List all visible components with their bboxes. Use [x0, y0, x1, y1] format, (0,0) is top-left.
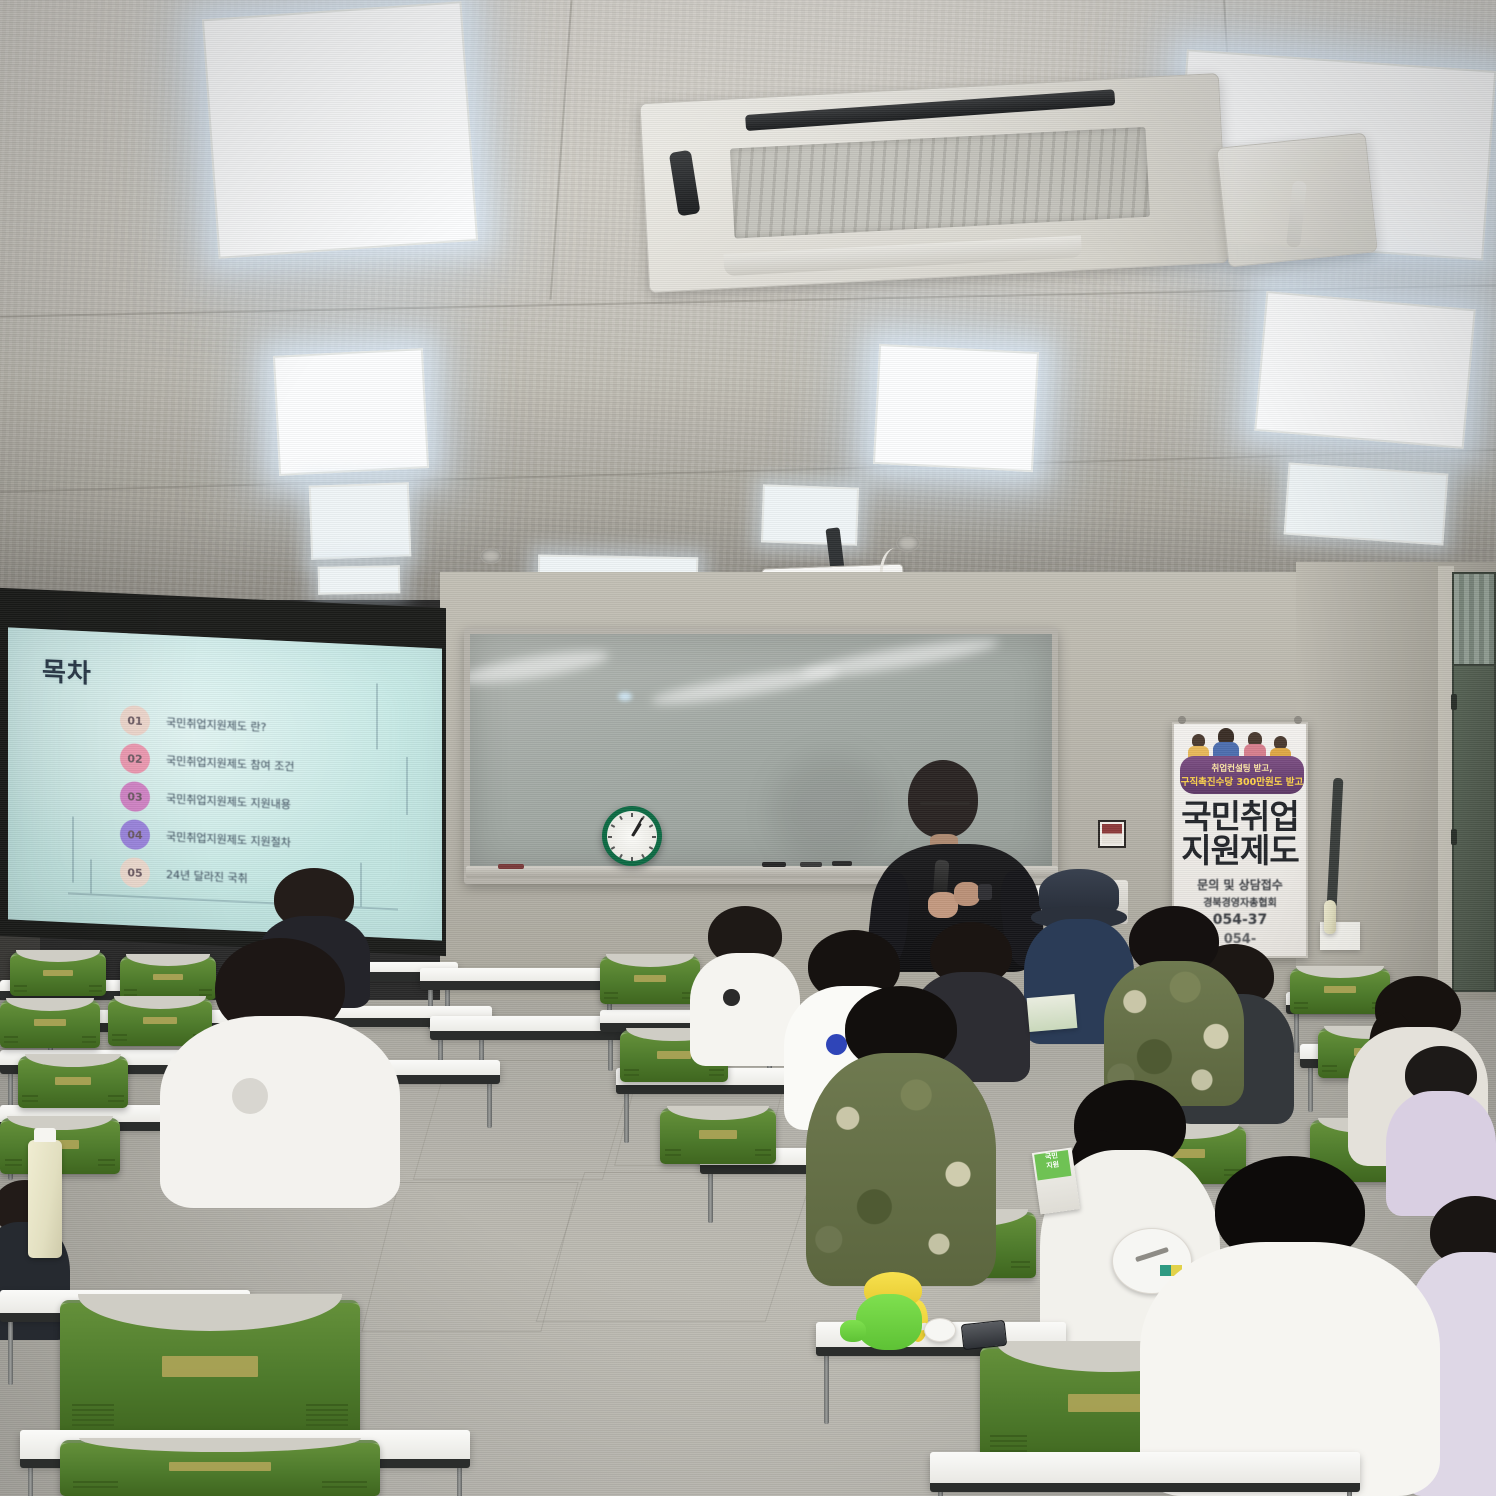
toc-label-02: 국민취업지원제도 참여 조건 [166, 752, 294, 774]
toc-number-02: 02 [120, 743, 150, 774]
desk-leg [708, 1170, 713, 1223]
toc-number-04: 04 [120, 819, 150, 850]
desk-leg [1308, 1064, 1313, 1112]
audience-member-foreground-right [1140, 1156, 1440, 1496]
clock-minute-hand [631, 817, 643, 836]
chair-vent [1011, 1261, 1031, 1272]
clock-tick [611, 846, 615, 850]
toc-label-03: 국민취업지원제도 지원내용 [166, 790, 291, 812]
ceiling-cassette-air-conditioner [639, 73, 1228, 293]
ac-grille [730, 127, 1150, 239]
clock-tick [631, 813, 633, 817]
chair-vent [82, 1036, 96, 1044]
chair-vent [72, 1404, 114, 1426]
chair-vent [5, 1159, 22, 1168]
banner-pill-line1: 취업컨설팅 받고, [1212, 762, 1273, 774]
chair-vent [709, 1069, 724, 1077]
marker[interactable] [832, 861, 852, 866]
floor-tile [536, 1172, 815, 1322]
green-leaflet [1027, 994, 1078, 1032]
smartphone [961, 1320, 1007, 1350]
bottle-cap [34, 1128, 56, 1142]
door-hinge [1451, 694, 1457, 710]
clock-tick [608, 836, 612, 838]
program-booklet: 국민 지원 [1032, 1148, 1080, 1215]
ceiling-light-7 [761, 484, 859, 545]
chair-label [657, 1051, 692, 1059]
water-bottle [28, 1140, 62, 1258]
chair-vent [604, 992, 618, 1000]
slide-decor-line [72, 817, 74, 883]
chair-vent [624, 1069, 639, 1077]
audience-member-camo [806, 986, 996, 1286]
desk-leg [28, 1464, 33, 1496]
banner-grommet [1294, 716, 1302, 724]
ceiling-light-5 [1254, 291, 1475, 449]
banner-title-line1: 국민취업 [1174, 800, 1306, 834]
toc-number-03: 03 [120, 781, 150, 812]
whiteboard-glare [800, 634, 1001, 684]
slide-title: 목차 [42, 651, 92, 690]
ceiling-light-8 [1284, 463, 1449, 546]
chair[interactable] [0, 1000, 100, 1048]
chair-label [43, 970, 74, 977]
chair[interactable] [18, 1056, 128, 1108]
chair-vent [1294, 1002, 1308, 1009]
plush-toy-arm [840, 1320, 866, 1342]
presenter-hand [954, 882, 980, 906]
ac-side-panel [1216, 132, 1378, 267]
toc-label-01: 국민취업지원제도 란? [166, 714, 266, 735]
desk-edge [420, 981, 620, 990]
toc-row-05: 0524년 달라진 국취 [120, 857, 248, 893]
banner-highlight-pill: 취업컨설팅 받고, 구직촉진수당 300만원도 받고 [1180, 756, 1304, 794]
chair[interactable] [60, 1440, 380, 1496]
marker[interactable] [498, 864, 524, 869]
slide-decor-line [406, 757, 408, 815]
audience-member-camo-2 [1104, 906, 1244, 1106]
wall-clock [602, 806, 662, 866]
projected-slide: 목차 01국민취업지원제도 란?02국민취업지원제도 참여 조건03국민취업지원… [8, 627, 442, 940]
ceiling-light-1 [202, 1, 478, 259]
toc-number-01: 01 [120, 705, 150, 736]
clock-tick [611, 824, 615, 828]
desk-leg [824, 1352, 829, 1424]
ac-vane [669, 150, 701, 217]
chair-vent [306, 1404, 348, 1426]
door-window [1452, 572, 1496, 666]
ceiling-light-9 [318, 565, 400, 594]
banner-grommet [1178, 716, 1186, 724]
whiteboard-hotspot [618, 692, 632, 701]
banner-title-line2: 지원제도 [1174, 834, 1306, 868]
clock-tick [619, 816, 623, 820]
wristwatch [978, 884, 992, 900]
chair-vent [22, 1095, 37, 1103]
chair-label [34, 1019, 66, 1026]
ceiling-light-4 [873, 344, 1039, 472]
chair-label [634, 975, 666, 982]
chair[interactable] [10, 952, 106, 996]
emergency-sign [1098, 820, 1126, 848]
banner-sub-line1: 문의 및 상담접수 [1174, 876, 1306, 893]
slide-decor-line [376, 683, 378, 749]
chair[interactable] [600, 956, 700, 1004]
toc-label-05: 24년 달라진 국취 [166, 866, 248, 886]
whiteboard-glare [470, 644, 611, 689]
clock-tick [619, 854, 623, 858]
chair-vent [112, 1034, 127, 1042]
booklet-cover-band: 국민 지원 [1034, 1150, 1071, 1180]
shirt-logo [723, 989, 740, 1006]
clock-face [607, 811, 657, 861]
ac-vane [1286, 181, 1307, 248]
chair-vent [1322, 1065, 1337, 1073]
toc-label-04: 국민취업지원제도 지원절차 [166, 828, 291, 850]
ac-vane [745, 89, 1115, 131]
chair-vent [124, 989, 137, 996]
slide-decor-line [90, 859, 92, 893]
clock-tick [652, 836, 656, 838]
chair[interactable] [660, 1108, 776, 1164]
banner-pill-line2: 구직촉진수당 300만원도 받고 [1181, 774, 1304, 788]
plush-toy-body [856, 1294, 922, 1350]
marker[interactable] [800, 862, 822, 867]
hand-fan [924, 1318, 956, 1342]
audience-member-front-left [160, 938, 400, 1208]
water-bottle [1324, 900, 1336, 934]
chair-label [169, 1462, 271, 1470]
ceiling-light-6 [309, 482, 412, 559]
chair-label [699, 1130, 736, 1138]
presenter-head [908, 760, 978, 838]
desk-leg [624, 1090, 629, 1143]
chair-vent [98, 1159, 115, 1168]
chair-vent [14, 985, 27, 992]
desk-leg [8, 1318, 13, 1385]
clock-tick [631, 857, 633, 861]
clock-tick [649, 824, 653, 828]
marker[interactable] [762, 862, 786, 867]
classroom-photo: 목차 01국민취업지원제도 란?02국민취업지원제도 참여 조건03국민취업지원… [0, 0, 1496, 1496]
ceiling-light-3 [273, 348, 429, 476]
chair-vent [322, 1481, 367, 1490]
desk-leg [1294, 1010, 1299, 1053]
desk-leg [457, 1464, 462, 1496]
chair-vent [665, 1149, 681, 1158]
desk-edge [930, 1483, 1360, 1492]
audience-torso [806, 1053, 996, 1286]
clock-tick [641, 854, 645, 858]
ceiling-speaker [480, 548, 502, 564]
emergency-sign-graphic [1102, 824, 1122, 844]
chair[interactable] [60, 1300, 360, 1440]
audience-torso [160, 1016, 400, 1208]
toc-number-05: 05 [120, 857, 150, 888]
chair-vent [89, 985, 102, 992]
clock-tick [649, 846, 653, 850]
chair-label [55, 1077, 90, 1085]
glasses-icon [920, 802, 970, 805]
chair-vent [755, 1149, 771, 1158]
ac-vane [724, 236, 1083, 277]
chair-label [162, 1356, 258, 1377]
door-hinge [1451, 829, 1457, 845]
chair-vent [4, 1036, 18, 1044]
chair-vent [73, 1481, 118, 1490]
chair-vent [108, 1095, 123, 1103]
desk-leg [487, 1080, 492, 1128]
